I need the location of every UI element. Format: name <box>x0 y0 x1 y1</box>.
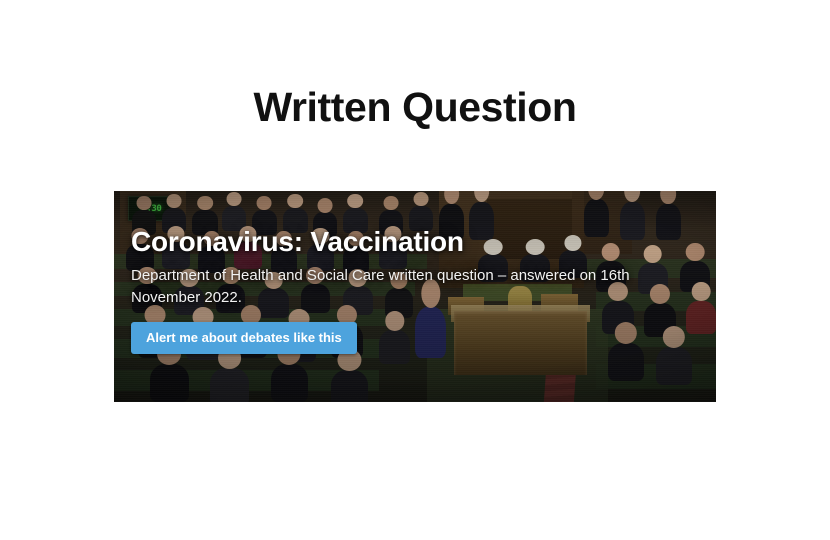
banner-subtitle: Department of Health and Social Care wri… <box>131 265 701 309</box>
banner-text-block: Coronavirus: Vaccination Department of H… <box>131 226 701 354</box>
page-title: Written Question <box>0 85 830 130</box>
question-banner: Coronavirus: Vaccination Department of H… <box>114 191 716 402</box>
banner-title: Coronavirus: Vaccination <box>131 226 701 257</box>
alert-me-button[interactable]: Alert me about debates like this <box>131 322 357 354</box>
